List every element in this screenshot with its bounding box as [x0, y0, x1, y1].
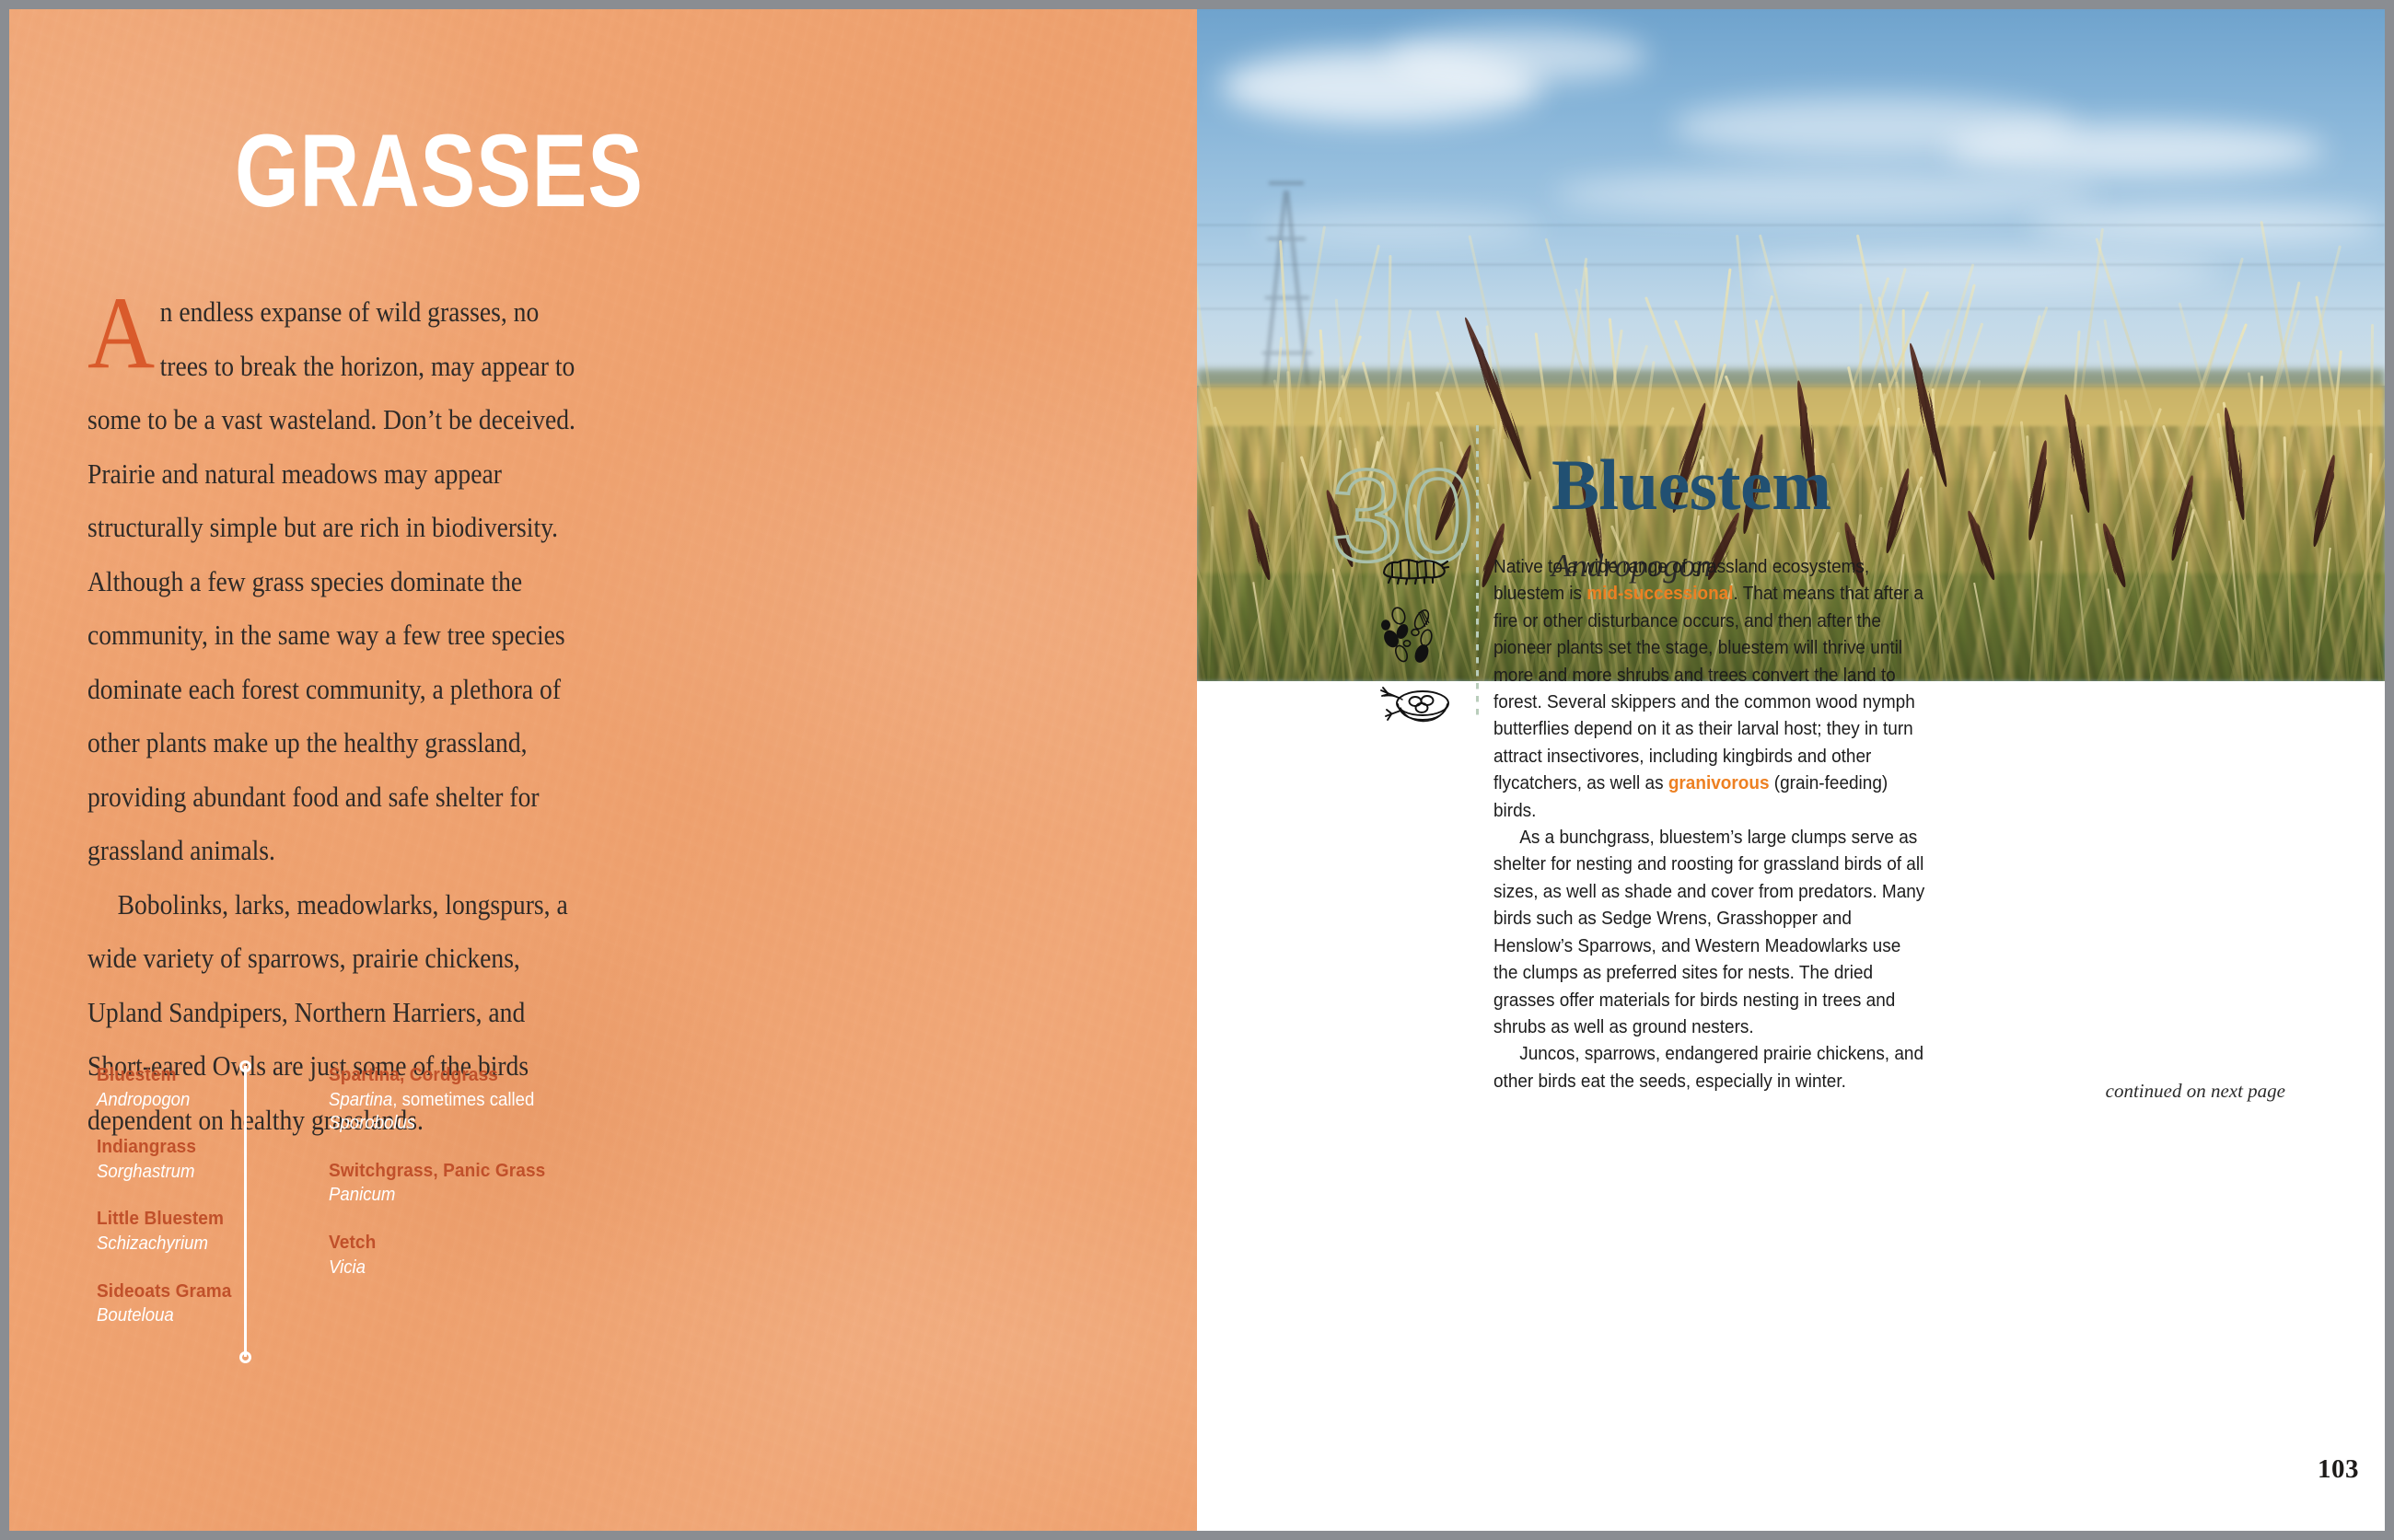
species-common-name: Vetch — [329, 1231, 586, 1255]
caterpillar-icon — [1378, 554, 1450, 585]
entry-p1-part-b: . That means that after a fire or other … — [1493, 584, 1923, 793]
lead-body-text: An endless expanse of wild grasses, no t… — [87, 285, 587, 1147]
species-common-name: Little Bluestem — [97, 1207, 328, 1231]
species-column-right: Spartina, Cordgrass Spartina, sometimes … — [329, 1063, 605, 1303]
species-latin-alt: Sporobolus — [329, 1113, 415, 1133]
glossary-term-granivorous[interactable]: granivorous — [1668, 773, 1770, 793]
entry-icon-list — [1378, 554, 1452, 744]
species-latin-name: Andropogon — [97, 1089, 328, 1113]
continued-note: continued on next page — [2106, 1080, 2285, 1103]
entry-paragraph-2: As a bunchgrass, bluestem’s large clumps… — [1493, 825, 1926, 1041]
lead-paragraph-1-text: n endless expanse of wild grasses, no tr… — [87, 296, 575, 866]
section-title: GRASSES — [235, 120, 644, 223]
seeds-icon — [1378, 606, 1443, 663]
species-divider-line — [244, 1066, 247, 1357]
page-number-right: 103 — [2318, 1454, 2359, 1485]
entry-dotted-divider — [1476, 425, 1479, 720]
species-item[interactable]: Switchgrass, Panic Grass Panicum — [329, 1159, 605, 1208]
species-common-name: Spartina, Cordgrass — [329, 1063, 586, 1087]
nest-icon — [1378, 683, 1454, 724]
species-latin-name: Spartina, sometimes called Sporobolus — [329, 1089, 586, 1136]
entry-body-text: Native to a wide range of grassland ecos… — [1493, 554, 1926, 1095]
species-divider-dot-top — [239, 1060, 251, 1072]
species-common-name: Switchgrass, Panic Grass — [329, 1159, 586, 1183]
entry-paragraph-1: Native to a wide range of grassland ecos… — [1493, 554, 1926, 825]
species-latin-name: Schizachyrium — [97, 1233, 328, 1256]
species-item[interactable]: Vetch Vicia — [329, 1231, 605, 1279]
species-latin-genus: Spartina — [329, 1090, 392, 1110]
species-item[interactable]: Indiangrass Sorghastrum — [97, 1135, 345, 1184]
species-item[interactable]: Sideoats Grama Bouteloua — [97, 1279, 345, 1328]
species-latin-name: Panicum — [329, 1184, 586, 1208]
species-common-name: Indiangrass — [97, 1135, 328, 1159]
species-latin-name: Vicia — [329, 1256, 586, 1280]
species-common-name: Bluestem — [97, 1063, 328, 1087]
species-latin-note: , sometimes called — [392, 1090, 534, 1110]
species-common-name: Sideoats Grama — [97, 1279, 328, 1303]
left-page: GRASSES An endless expanse of wild grass… — [9, 9, 1197, 1531]
species-column-left: Bluestem Andropogon Indiangrass Sorghast… — [97, 1063, 345, 1351]
book-spread: GRASSES An endless expanse of wild grass… — [0, 0, 2394, 1540]
lead-paragraph-1: An endless expanse of wild grasses, no t… — [87, 285, 587, 878]
drop-cap: A — [87, 289, 160, 372]
glossary-term-mid-successional[interactable]: mid-successional — [1586, 584, 1733, 604]
species-latin-name: Bouteloua — [97, 1304, 328, 1328]
species-divider-dot-bottom — [239, 1351, 251, 1363]
species-item[interactable]: Spartina, Cordgrass Spartina, sometimes … — [329, 1063, 605, 1136]
entry-title: Bluestem — [1551, 449, 1831, 521]
species-item[interactable]: Little Bluestem Schizachyrium — [97, 1207, 345, 1256]
right-page: 30 Bluestem Andropogon — [1197, 9, 2385, 1531]
entry-paragraph-3: Juncos, sparrows, endangered prairie chi… — [1493, 1041, 1926, 1095]
species-item[interactable]: Bluestem Andropogon — [97, 1063, 345, 1112]
species-latin-name: Sorghastrum — [97, 1161, 328, 1185]
